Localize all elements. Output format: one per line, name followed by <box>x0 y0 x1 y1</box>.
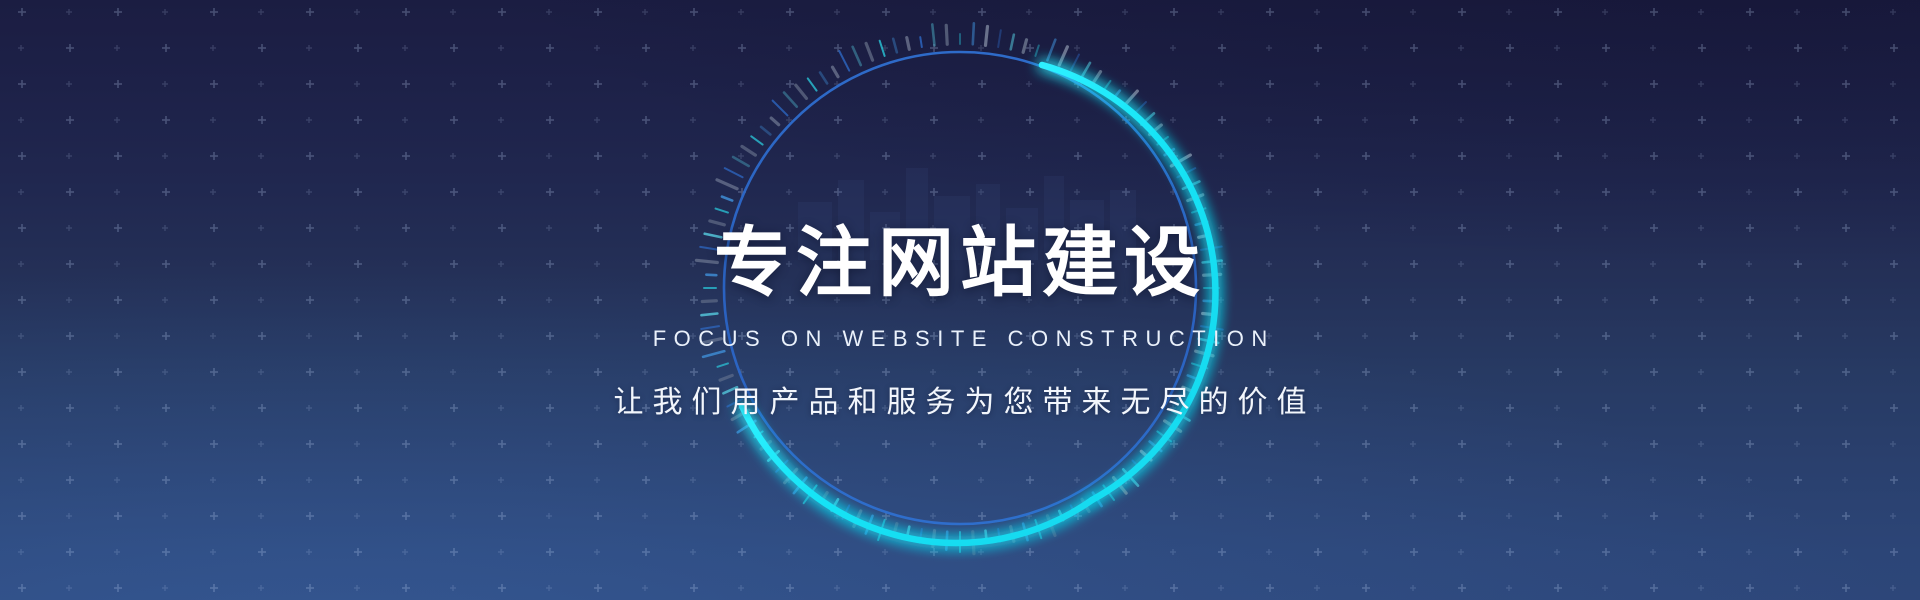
banner-content: 专注网站建设 FOCUS ON WEBSITE CONSTRUCTION 让我们… <box>0 0 1920 600</box>
banner-tagline: 让我们用产品和服务为您带来无尽的价值 <box>605 377 1316 421</box>
hero-banner: 专注网站建设 FOCUS ON WEBSITE CONSTRUCTION 让我们… <box>0 0 1920 600</box>
page-title: 专注网站建设 <box>714 226 1206 302</box>
banner-subtitle: FOCUS ON WEBSITE CONSTRUCTION <box>645 326 1275 352</box>
